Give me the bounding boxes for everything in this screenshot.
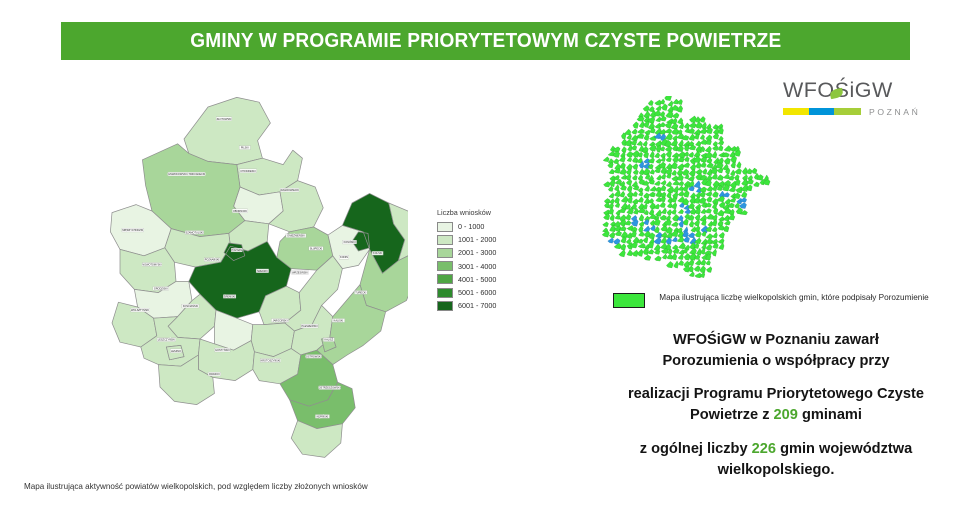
gmina-signed [656, 105, 662, 110]
powiat-label: LESZCZYŃSKI [157, 338, 176, 342]
powiat-label: KALISKI [332, 319, 345, 323]
svg-text:WĄGROWIECKI: WĄGROWIECKI [280, 189, 299, 192]
powiat-label: POZNAŃ [231, 248, 242, 252]
statement-line-3: realizacji Programu Priorytetowego Czyst… [628, 386, 924, 402]
gmina-not-signed [688, 233, 695, 238]
gmina-signed [717, 210, 724, 216]
gmina-signed [695, 122, 702, 129]
gmina-signed [730, 170, 735, 176]
legend-row: 1001 - 2000 [437, 233, 537, 246]
gmina-signed [603, 222, 609, 227]
gmina-signed [673, 99, 679, 104]
gmina-signed [619, 250, 626, 257]
gmina-signed [725, 199, 731, 205]
gmina-signed [654, 181, 660, 186]
gmina-not-signed [679, 220, 684, 227]
gmina-signed [656, 159, 661, 164]
svg-text:CZARNKOWSKO-TRZCIANECKI: CZARNKOWSKO-TRZCIANECKI [168, 173, 206, 176]
gmina-signed [665, 96, 672, 101]
gmina-signed [737, 161, 742, 168]
gmina-signed [705, 152, 712, 159]
gmina-signed [620, 244, 626, 251]
gmina-signed [719, 232, 725, 238]
svg-text:GOSTYŃSKI: GOSTYŃSKI [215, 349, 230, 352]
statement-line-2: Porozumienia o współpracy przy [662, 353, 889, 369]
gminy-legend: Mapa ilustrująca liczbę wielkopolskich g… [613, 292, 943, 308]
gmina-signed [695, 141, 701, 146]
gmina-signed [626, 238, 631, 244]
gmina-signed [654, 256, 661, 261]
gmina-signed [672, 253, 677, 260]
svg-text:NOWOTOMYSKI: NOWOTOMYSKI [142, 263, 162, 266]
powiat-label: WOLSZTYŃSKI [131, 308, 150, 312]
svg-text:KONIŃSKI: KONIŃSKI [344, 241, 356, 244]
gmina-signed [706, 192, 713, 197]
gmina-signed [671, 203, 677, 209]
powiat-label: OSTROWSKI [306, 355, 322, 359]
gmina-signed [619, 168, 626, 175]
gmina-signed [707, 186, 713, 191]
logo-wordmark: WFOŚiGW [783, 80, 917, 102]
legend-row: 3001 - 4000 [437, 260, 537, 273]
statement-line-4-post: gminami [798, 407, 862, 423]
gmina-signed [684, 123, 690, 129]
gmina-signed [638, 188, 643, 193]
gmina-signed [718, 243, 724, 250]
powiat-label: KALISZ [323, 338, 334, 342]
gmina-signed [661, 208, 666, 214]
gmina-signed [668, 101, 673, 107]
gmina-signed [619, 191, 624, 197]
gmina-signed [666, 261, 673, 267]
gmina-signed [608, 162, 614, 168]
gmina-signed [613, 159, 618, 164]
gmina-signed [678, 254, 684, 260]
gmina-signed [643, 105, 649, 111]
powiat-label: POZNAŃSKI [204, 258, 220, 262]
powiat-label: KONIŃSKI [342, 240, 356, 244]
gmina-signed [690, 208, 696, 214]
svg-text:KONIN: KONIN [340, 256, 348, 259]
gmina-signed [678, 209, 684, 214]
legend-row: 5001 - 6000 [437, 286, 537, 299]
gmina-not-signed [685, 209, 691, 214]
gmina-signed [665, 168, 672, 175]
gmina-signed [689, 134, 695, 141]
gmina-signed [603, 157, 609, 162]
logo-bar-segment-green [834, 108, 861, 115]
gmina-signed [662, 254, 667, 259]
legend-swatch [437, 248, 453, 258]
gmina-signed [713, 232, 718, 238]
gmina-signed [712, 227, 717, 232]
gmina-signed [633, 170, 638, 175]
gmina-signed [644, 255, 651, 261]
gmina-signed [705, 146, 711, 152]
gmina-not-signed [684, 236, 690, 242]
gmina-signed [654, 250, 660, 255]
statement-paragraph-3: z ogólnej liczby 226 gmin województwa wi… [596, 439, 956, 480]
gmina-signed [689, 265, 694, 272]
gmina-signed [674, 261, 679, 268]
gmina-signed [625, 214, 630, 220]
gmina-signed [689, 116, 696, 123]
gmina-signed [672, 214, 678, 221]
powiat-label: LESZNO [170, 349, 181, 353]
gmina-signed [700, 266, 706, 273]
gmina-signed [662, 104, 668, 111]
powiat-label: GRODZISKI [153, 287, 169, 291]
powiat-label: ŚREDZKI [256, 269, 269, 273]
powiat-label: SZAMOTULSKI [185, 231, 204, 235]
powiat-label: MIĘDZYCHODZKI [122, 228, 144, 232]
gmina-signed [706, 196, 712, 202]
logo-bar-segment-yellow [783, 108, 809, 115]
gmina-signed [637, 116, 644, 121]
legend-swatch [437, 222, 453, 232]
legend-label: 5001 - 6000 [458, 288, 496, 297]
gmina-signed [700, 259, 706, 265]
gmina-signed [707, 162, 714, 168]
statement-paragraph-1: WFOŚiGW w Poznaniu zawarł Porozumienia o… [596, 330, 956, 371]
gmina-signed [689, 221, 694, 228]
gmina-signed [648, 100, 653, 106]
gmina-signed [654, 244, 660, 251]
total-count-value: 226 [752, 441, 776, 457]
gmina-signed [661, 174, 666, 180]
gmina-signed [688, 152, 693, 157]
gmina-signed [706, 158, 712, 163]
svg-text:ZŁOTOWSKI: ZŁOTOWSKI [217, 118, 232, 121]
gmina-signed [644, 198, 650, 204]
gmina-signed [627, 185, 632, 192]
svg-text:TURECKI: TURECKI [355, 291, 366, 294]
wfosigw-logo: WFOŚiGW POZNAŃ [783, 80, 917, 124]
legend-label: 4001 - 5000 [458, 275, 496, 284]
powiat-area [184, 97, 270, 164]
gmina-signed [684, 157, 689, 162]
legend-label: 0 - 1000 [458, 222, 484, 231]
gmina-signed [633, 237, 639, 244]
gmina-signed [746, 168, 752, 174]
gmina-signed [656, 175, 661, 180]
legend-label: 2001 - 3000 [458, 248, 496, 257]
gmina-signed [660, 111, 665, 117]
powiat-label: GOSTYŃSKI [215, 348, 231, 352]
legend-label: 1001 - 2000 [458, 235, 496, 244]
gmina-signed [632, 129, 638, 134]
gmina-signed [683, 219, 688, 226]
gmina-signed [723, 225, 729, 231]
svg-text:PILSKI: PILSKI [241, 147, 249, 150]
gmina-signed [664, 128, 671, 133]
footer-caption: Mapa ilustrująca aktywność powiatów wiel… [24, 482, 368, 491]
gmina-signed [660, 237, 666, 244]
svg-text:GRODZISKI: GRODZISKI [154, 287, 168, 290]
gmina-signed [632, 145, 637, 150]
powiat-label: SŁUPECKI [309, 247, 323, 251]
legend-row: 2001 - 3000 [437, 246, 537, 259]
svg-text:KOLSKI: KOLSKI [373, 252, 382, 255]
legend-swatch [437, 288, 453, 298]
gmina-signed [694, 265, 700, 271]
svg-text:KOŚCIAŃSKI: KOŚCIAŃSKI [183, 305, 199, 308]
svg-text:ŚREDZKI: ŚREDZKI [257, 270, 268, 273]
choropleth-svg: ZŁOTOWSKIPILSKICHODZIESKIWĄGROWIECKICZAR… [88, 84, 408, 474]
statement-line-5-post: gmin województwa [776, 441, 912, 457]
gmina-signed [742, 167, 747, 174]
gmina-signed [633, 122, 639, 129]
gmina-signed [644, 185, 649, 191]
powiaty-choropleth-map: ZŁOTOWSKIPILSKICHODZIESKIWĄGROWIECKICZAR… [88, 84, 408, 474]
legend-row: 0 - 1000 [437, 220, 537, 233]
gmina-signed [683, 266, 690, 273]
gmina-signed [666, 150, 672, 157]
legend-row: 6001 - 7000 [437, 299, 537, 312]
legend-swatch [437, 261, 453, 271]
legend-row: 4001 - 5000 [437, 273, 537, 286]
logo-city-label: POZNAŃ [869, 107, 920, 117]
gminy-legend-swatch [613, 293, 645, 308]
powiat-label: KĘPIŃSKI [315, 415, 329, 419]
gmina-signed [677, 99, 682, 104]
statement-line-4-pre: Powietrze z [690, 407, 774, 423]
gmina-signed [644, 111, 650, 118]
powiat-area [120, 248, 176, 293]
gmina-signed [626, 179, 632, 185]
gmina-signed [683, 191, 690, 198]
gmina-signed [665, 146, 672, 152]
gmina-signed [609, 193, 614, 198]
legend-label: 6001 - 7000 [458, 301, 496, 310]
legend-title: Liczba wniosków [437, 208, 537, 217]
powiat-label: JAROCIŃSKI [271, 319, 288, 323]
gmina-signed [724, 146, 731, 152]
gminy-map-svg [592, 96, 772, 286]
gmina-signed [694, 220, 700, 227]
legend-swatch [437, 301, 453, 311]
gmina-signed [637, 141, 643, 146]
gmina-signed [637, 129, 644, 134]
poster-root: GMINY W PROGRAMIE PRIORYTETOWYM CZYSTE P… [0, 0, 971, 517]
gmina-signed [693, 156, 700, 163]
svg-text:WOLSZTYŃSKI: WOLSZTYŃSKI [131, 309, 149, 312]
svg-text:WRZESIŃSKI: WRZESIŃSKI [292, 271, 308, 274]
gmina-signed [718, 145, 723, 151]
gmina-signed [667, 203, 672, 208]
gmina-not-signed [655, 232, 662, 238]
svg-text:OSTROWSKI: OSTROWSKI [306, 355, 322, 358]
gmina-signed [695, 259, 701, 265]
gmina-signed [718, 238, 724, 243]
gmina-signed [702, 168, 707, 174]
gmina-signed [638, 197, 644, 203]
gmina-signed [633, 163, 638, 169]
gmina-signed [679, 260, 684, 265]
gmina-signed [603, 182, 610, 187]
gmina-signed [706, 233, 713, 238]
statement-paragraph-2: realizacji Programu Priorytetowego Czyst… [596, 384, 956, 425]
gmina-signed [671, 162, 677, 169]
gmina-signed [671, 128, 678, 134]
gmina-signed [660, 202, 666, 208]
svg-text:SŁUPECKI: SŁUPECKI [310, 247, 323, 250]
statement-line-5-pre: z ogólnej liczby [640, 441, 752, 457]
gmina-not-signed [643, 226, 650, 232]
svg-text:LESZNO: LESZNO [171, 350, 181, 353]
gmina-signed [667, 209, 672, 215]
choropleth-legend: Liczba wniosków 0 - 10001001 - 20002001 … [437, 208, 537, 312]
gmina-signed [700, 134, 705, 139]
svg-text:POZNAŃ: POZNAŃ [232, 249, 243, 252]
gmina-signed [712, 249, 717, 256]
gmina-signed [639, 214, 644, 221]
svg-text:KALISKI: KALISKI [334, 319, 344, 322]
powiat-label: PLESZEWSKI [301, 324, 318, 328]
gmina-not-signed [654, 237, 661, 244]
gmina-signed [666, 157, 672, 162]
gmina-signed [741, 191, 747, 197]
gmina-signed [677, 237, 684, 243]
powiat-label: ZŁOTOWSKI [216, 117, 232, 121]
gminy-map [592, 96, 772, 286]
svg-text:PLESZEWSKI: PLESZEWSKI [302, 325, 318, 328]
gmina-signed [712, 191, 718, 197]
gmina-signed [660, 116, 666, 121]
gmina-signed [696, 162, 701, 169]
gmina-signed [700, 162, 706, 168]
gminy-count-value: 209 [774, 407, 798, 423]
powiat-label: OSTRZESZOWSKI [319, 386, 341, 390]
gmina-signed [632, 150, 639, 157]
gmina-signed [705, 208, 711, 213]
gmina-signed [689, 123, 696, 128]
gmina-signed [661, 180, 667, 185]
gmina-signed [649, 192, 655, 197]
statement-block: WFOŚiGW w Poznaniu zawarł Porozumienia o… [596, 330, 956, 480]
gmina-signed [610, 214, 615, 221]
header-banner: GMINY W PROGRAMIE PRIORYTETOWYM CZYSTE P… [61, 22, 910, 60]
gmina-signed [665, 122, 672, 128]
powiat-label: KOŚCIAŃSKI [182, 304, 199, 308]
legend-swatch [437, 235, 453, 245]
logo-bar-segment-blue [809, 108, 834, 115]
gmina-signed [666, 181, 672, 187]
gmina-signed [643, 121, 649, 128]
legend-label: 3001 - 4000 [458, 262, 496, 271]
gmina-signed [656, 210, 662, 217]
gmina-signed [678, 186, 683, 191]
gmina-signed [650, 169, 655, 174]
gmina-signed [706, 260, 711, 265]
powiat-label: PILSKI [239, 146, 250, 150]
powiat-label: CZARNKOWSKO-TRZCIANECKI [168, 172, 206, 176]
gmina-signed [632, 175, 637, 180]
gmina-signed [632, 199, 638, 204]
gmina-signed [671, 170, 676, 176]
svg-text:KĘPIŃSKI: KĘPIŃSKI [317, 415, 329, 418]
svg-text:JAROCIŃSKI: JAROCIŃSKI [272, 319, 287, 322]
gmina-signed [639, 222, 644, 227]
gmina-signed [677, 164, 684, 170]
powiat-label: RAWICKI [208, 372, 221, 376]
gmina-signed [643, 236, 648, 242]
powiat-label: WĄGROWIECKI [280, 188, 299, 192]
powiat-label: WRZESIŃSKI [291, 271, 308, 275]
powiat-label: KROTOSZYŃSKI [260, 359, 280, 363]
gmina-signed [644, 193, 650, 199]
gmina-signed [712, 146, 718, 151]
gmina-signed [706, 244, 712, 250]
gmina-signed [724, 220, 730, 225]
gmina-signed [700, 116, 706, 122]
gmina-not-signed [694, 180, 701, 187]
gmina-signed [660, 215, 667, 220]
gmina-signed [718, 216, 724, 221]
gmina-signed [717, 175, 724, 181]
statement-line-6: wielkopolskiego. [718, 462, 835, 478]
gmina-signed [654, 152, 659, 158]
powiat-label: GNIEŹNIEŃSKI [286, 234, 306, 238]
gmina-signed [615, 231, 622, 236]
powiat-label: KONIN [339, 255, 349, 259]
gmina-signed [671, 222, 678, 227]
gmina-signed [695, 214, 700, 221]
gmina-signed [627, 192, 633, 198]
powiat-label: TURECKI [354, 291, 367, 295]
legend-swatch [437, 274, 453, 284]
gmina-not-signed [672, 237, 677, 242]
gmina-signed [713, 141, 718, 146]
statement-line-1: WFOŚiGW w Poznaniu zawarł [673, 332, 879, 348]
gmina-signed [689, 272, 694, 277]
powiat-label: OBORNICKI [232, 209, 248, 213]
gmina-signed [695, 230, 701, 237]
gmina-signed [665, 133, 672, 140]
gmina-signed [730, 198, 736, 203]
svg-text:GNIEŹNIEŃSKI: GNIEŹNIEŃSKI [287, 235, 305, 238]
gmina-signed [706, 267, 712, 273]
gmina-signed [650, 203, 656, 209]
svg-text:SZAMOTULSKI: SZAMOTULSKI [186, 231, 204, 234]
gmina-signed [678, 242, 685, 249]
svg-text:RAWICKI: RAWICKI [209, 373, 220, 376]
gmina-signed [660, 153, 665, 158]
svg-text:KALISZ: KALISZ [324, 339, 333, 342]
gmina-signed [752, 168, 757, 174]
gmina-signed [637, 249, 643, 256]
svg-text:CHODZIESKI: CHODZIESKI [240, 170, 256, 173]
gmina-signed [696, 169, 702, 174]
gmina-signed [642, 141, 647, 147]
powiat-label: ŚREMSKI [223, 295, 236, 299]
gmina-signed [678, 191, 684, 197]
gmina-signed [735, 168, 742, 174]
logo-bar-row: POZNAŃ [783, 107, 917, 117]
gmina-signed [712, 151, 717, 158]
gmina-signed [724, 158, 730, 165]
gmina-signed [627, 157, 632, 162]
gmina-signed [638, 231, 644, 236]
logo-color-bar [783, 108, 861, 115]
gmina-signed [718, 140, 724, 145]
powiat-label: CHODZIESKI [239, 169, 256, 173]
gmina-signed [735, 203, 740, 209]
gmina-signed [609, 232, 615, 238]
powiat-label: NOWOTOMYSKI [142, 263, 162, 267]
powiat-label: KOLSKI [372, 251, 383, 255]
gmina-signed [671, 209, 676, 215]
